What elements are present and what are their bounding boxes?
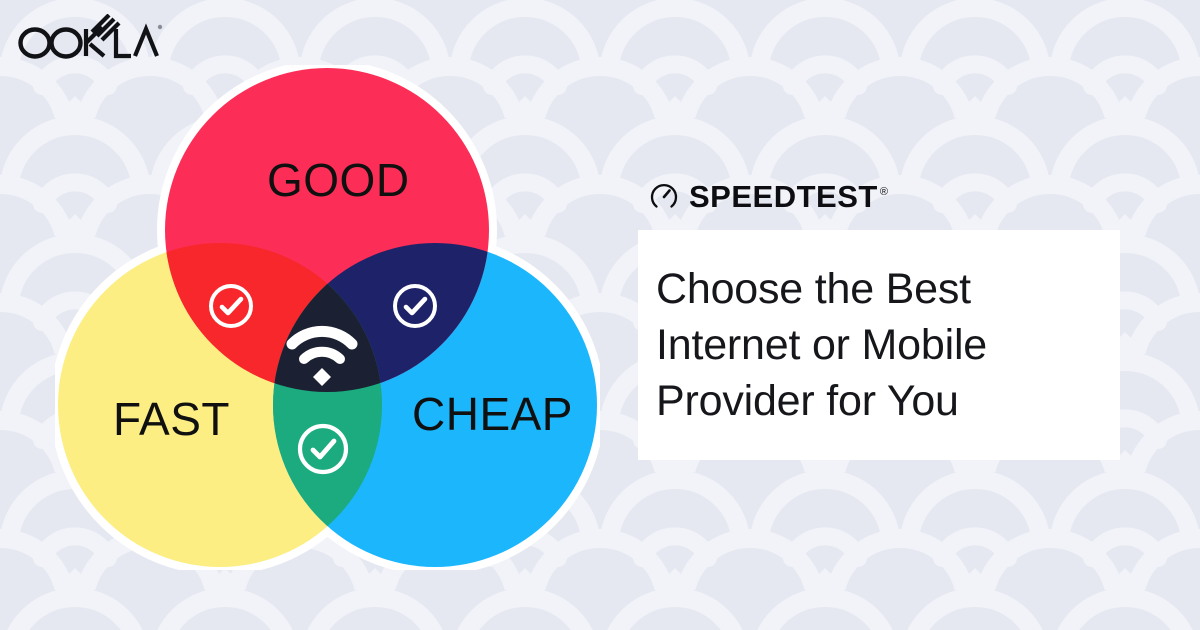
headline-card: Choose the Best Internet or Mobile Provi… (638, 230, 1120, 460)
headline-line-1: Choose the Best (656, 262, 1120, 318)
venn-label-fast: FAST (113, 392, 230, 446)
headline-line-3: Provider for You (656, 374, 1120, 430)
right-content-column: SPEEDTEST® Choose the Best Internet or M… (638, 176, 1120, 460)
speedometer-gauge-icon (648, 180, 680, 212)
page-title: Choose the Best Internet or Mobile Provi… (656, 262, 1120, 430)
venn-labels: GOOD FAST CHEAP (55, 65, 600, 570)
venn-label-cheap: CHEAP (412, 387, 573, 441)
speedtest-logo: SPEEDTEST® (638, 176, 1120, 216)
registered-trademark-symbol: ® (880, 186, 889, 198)
speedtest-wordmark-text: SPEEDTEST (689, 179, 878, 214)
speedtest-wordmark: SPEEDTEST® (689, 181, 888, 212)
headline-line-2: Internet or Mobile (656, 318, 1120, 374)
promo-graphic: GOOD FAST CHEAP SPEEDTEST® Choose the Be… (0, 0, 1200, 630)
ookla-logo (16, 14, 166, 62)
venn-label-good: GOOD (267, 153, 410, 207)
